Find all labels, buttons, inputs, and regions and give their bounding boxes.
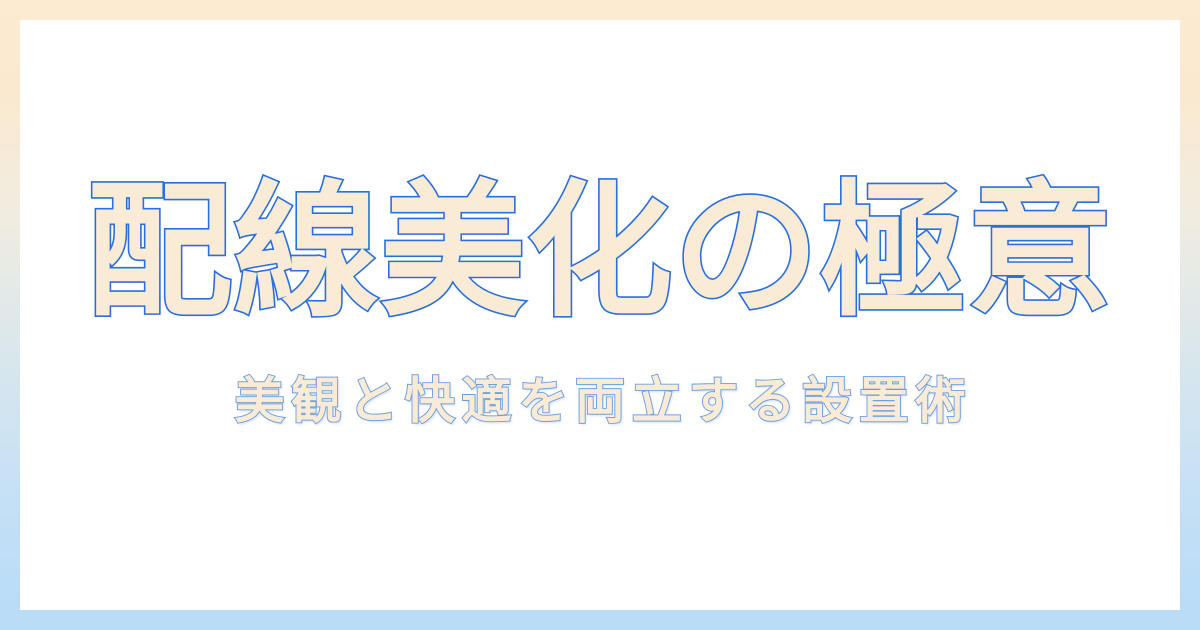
title-block: 配線美化の極意	[20, 175, 1180, 330]
subtitle-block: 美観と快適を両立する設置術	[20, 374, 1180, 429]
content-panel: 配線美化の極意 美観と快適を両立する設置術	[20, 20, 1180, 610]
page-title: 配線美化の極意	[20, 175, 1180, 330]
og-card: 配線美化の極意 美観と快適を両立する設置術	[0, 0, 1200, 630]
panel-inner: 配線美化の極意 美観と快適を両立する設置術	[20, 20, 1180, 610]
page-subtitle: 美観と快適を両立する設置術	[228, 374, 973, 429]
